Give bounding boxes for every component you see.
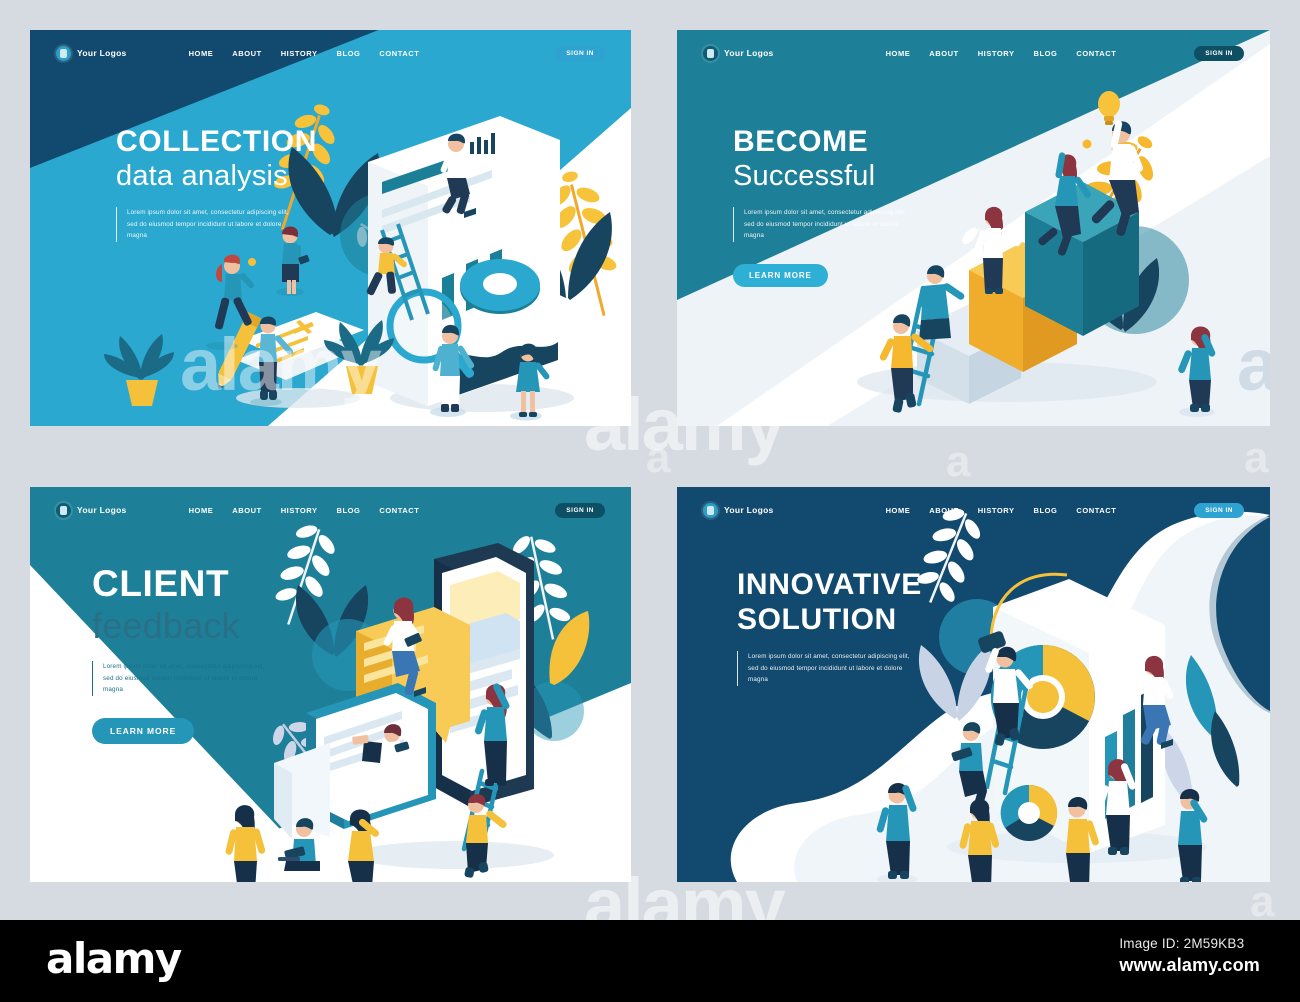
logo[interactable]: Your Logos xyxy=(56,46,127,61)
nav-link-blog[interactable]: BLOG xyxy=(1034,49,1058,58)
person-with-idea xyxy=(1090,91,1144,237)
logo[interactable]: Your Logos xyxy=(703,503,774,518)
person-pushing-card xyxy=(348,809,380,882)
nav-link-history[interactable]: HISTORY xyxy=(281,506,318,515)
panel3-navbar: Your Logos HOME ABOUT HISTORY BLOG CONTA… xyxy=(30,487,631,533)
sign-in-button[interactable]: SIGN IN xyxy=(555,503,605,518)
alamy-url: www.alamy.com xyxy=(1119,955,1260,976)
watermark-letter: a xyxy=(1244,436,1268,480)
person-leaning xyxy=(919,265,966,340)
person-with-laptop xyxy=(278,818,320,871)
panel-client-feedback[interactable]: Your Logos HOME ABOUT HISTORY BLOG CONTA… xyxy=(30,487,631,882)
person-painting xyxy=(984,647,1034,747)
main-menu: HOME ABOUT HISTORY BLOG CONTACT xyxy=(189,49,420,58)
gear-logo-icon xyxy=(56,46,71,61)
page-title-line2: data analysis xyxy=(116,160,317,192)
nav-link-about[interactable]: ABOUT xyxy=(929,49,958,58)
learn-more-button[interactable]: LEARN MORE xyxy=(733,264,828,287)
page-title-line1: COLLECTION xyxy=(116,126,317,158)
panel4-navbar: Your Logos HOME ABOUT HISTORY BLOG CONTA… xyxy=(677,487,1270,533)
nav-link-contact[interactable]: CONTACT xyxy=(379,49,419,58)
person-waving xyxy=(876,783,918,882)
person-on-block xyxy=(974,207,1022,294)
nav-link-history[interactable]: HISTORY xyxy=(281,49,318,58)
person-reaching-board xyxy=(1095,759,1137,855)
logo-label: Your Logos xyxy=(77,48,127,58)
nav-link-home[interactable]: HOME xyxy=(886,49,911,58)
hero-description: Lorem ipsum dolor sit amet, consectetur … xyxy=(92,661,267,696)
person-by-bars xyxy=(1178,789,1209,882)
person-sitting-on-card xyxy=(383,597,426,697)
watermark-letter: a xyxy=(646,436,670,480)
main-menu: HOME ABOUT HISTORY BLOG CONTACT xyxy=(886,49,1117,58)
person-standing-front xyxy=(225,805,266,882)
sign-in-button[interactable]: SIGN IN xyxy=(555,46,605,61)
person-sitting-on-board xyxy=(1140,656,1175,749)
person-walking xyxy=(1177,326,1216,417)
gear-logo-icon xyxy=(56,503,71,518)
footer-meta: Image ID: 2M59KB3 www.alamy.com xyxy=(1119,936,1260,976)
person-climbing xyxy=(464,794,508,878)
nav-link-home[interactable]: HOME xyxy=(189,506,214,515)
nav-link-blog[interactable]: BLOG xyxy=(337,506,361,515)
person-front-center xyxy=(959,799,1000,882)
nav-link-contact[interactable]: CONTACT xyxy=(379,506,419,515)
nav-link-contact[interactable]: CONTACT xyxy=(1076,506,1116,515)
logo-label: Your Logos xyxy=(724,505,774,515)
panel2-navbar: Your Logos HOME ABOUT HISTORY BLOG CONTA… xyxy=(677,30,1270,76)
panel1-navbar: Your Logos HOME ABOUT HISTORY BLOG CONTA… xyxy=(30,30,631,76)
sign-in-button[interactable]: SIGN IN xyxy=(1194,46,1244,61)
logo-label: Your Logos xyxy=(77,505,127,515)
stock-photo-canvas: a a a a a a a a a a alamy alamy Your Log… xyxy=(0,0,1300,1002)
panel-become-successful[interactable]: Your Logos HOME ABOUT HISTORY BLOG CONTA… xyxy=(677,30,1270,426)
person-lying-reading xyxy=(352,724,410,767)
nav-link-blog[interactable]: BLOG xyxy=(337,49,361,58)
nav-link-about[interactable]: ABOUT xyxy=(232,49,261,58)
watermark-letter: a xyxy=(1250,880,1274,924)
person-touching-screen xyxy=(474,682,511,786)
person-yellow-shirt xyxy=(1066,797,1100,882)
panel1-hero: COLLECTION data analysis Lorem ipsum dol… xyxy=(116,126,317,242)
page-title-line1: CLIENT xyxy=(92,565,267,604)
learn-more-button[interactable]: LEARN MORE xyxy=(92,718,194,744)
main-menu: HOME ABOUT HISTORY BLOG CONTACT xyxy=(886,506,1117,515)
gear-logo-icon xyxy=(703,503,718,518)
page-title-line2: Successful xyxy=(733,160,908,192)
panel3-hero: CLIENT feedback Lorem ipsum dolor sit am… xyxy=(92,565,267,744)
sign-in-button[interactable]: SIGN IN xyxy=(1194,503,1244,518)
page-title-line2: SOLUTION xyxy=(737,603,922,637)
nav-link-home[interactable]: HOME xyxy=(189,49,214,58)
nav-link-history[interactable]: HISTORY xyxy=(978,506,1015,515)
logo-label: Your Logos xyxy=(724,48,774,58)
hero-description: Lorem ipsum dolor sit amet, consectetur … xyxy=(733,207,908,242)
hero-description: Lorem ipsum dolor sit amet, consectetur … xyxy=(116,207,291,242)
nav-link-contact[interactable]: CONTACT xyxy=(1076,49,1116,58)
hero-description: Lorem ipsum dolor sit amet, consectetur … xyxy=(737,651,912,686)
nav-link-blog[interactable]: BLOG xyxy=(1034,506,1058,515)
gear-logo-icon xyxy=(703,46,718,61)
nav-link-about[interactable]: ABOUT xyxy=(929,506,958,515)
image-id-label: Image ID: 2M59KB3 xyxy=(1119,936,1260,951)
page-title-line2: feedback xyxy=(92,606,267,646)
panel-collection-data-analysis[interactable]: Your Logos HOME ABOUT HISTORY BLOG CONTA… xyxy=(30,30,631,426)
watermark-letter: a xyxy=(946,440,970,484)
nav-link-history[interactable]: HISTORY xyxy=(978,49,1015,58)
alamy-wordmark: alamy xyxy=(46,934,181,983)
person-jumping xyxy=(1037,140,1092,257)
nav-link-home[interactable]: HOME xyxy=(886,506,911,515)
panel2-hero: BECOME Successful Lorem ipsum dolor sit … xyxy=(733,126,908,287)
alamy-footer-bar: alamy Image ID: 2M59KB3 www.alamy.com xyxy=(0,920,1300,1002)
main-menu: HOME ABOUT HISTORY BLOG CONTACT xyxy=(189,506,420,515)
page-title-line1: INNOVATIVE xyxy=(737,569,922,601)
logo[interactable]: Your Logos xyxy=(703,46,774,61)
panel-innovative-solution[interactable]: Your Logos HOME ABOUT HISTORY BLOG CONTA… xyxy=(677,487,1270,882)
page-title-line1: BECOME xyxy=(733,126,908,158)
panel4-hero: INNOVATIVE SOLUTION Lorem ipsum dolor si… xyxy=(737,569,922,686)
nav-link-about[interactable]: ABOUT xyxy=(232,506,261,515)
logo[interactable]: Your Logos xyxy=(56,503,127,518)
person-seated-laptop xyxy=(951,722,988,812)
